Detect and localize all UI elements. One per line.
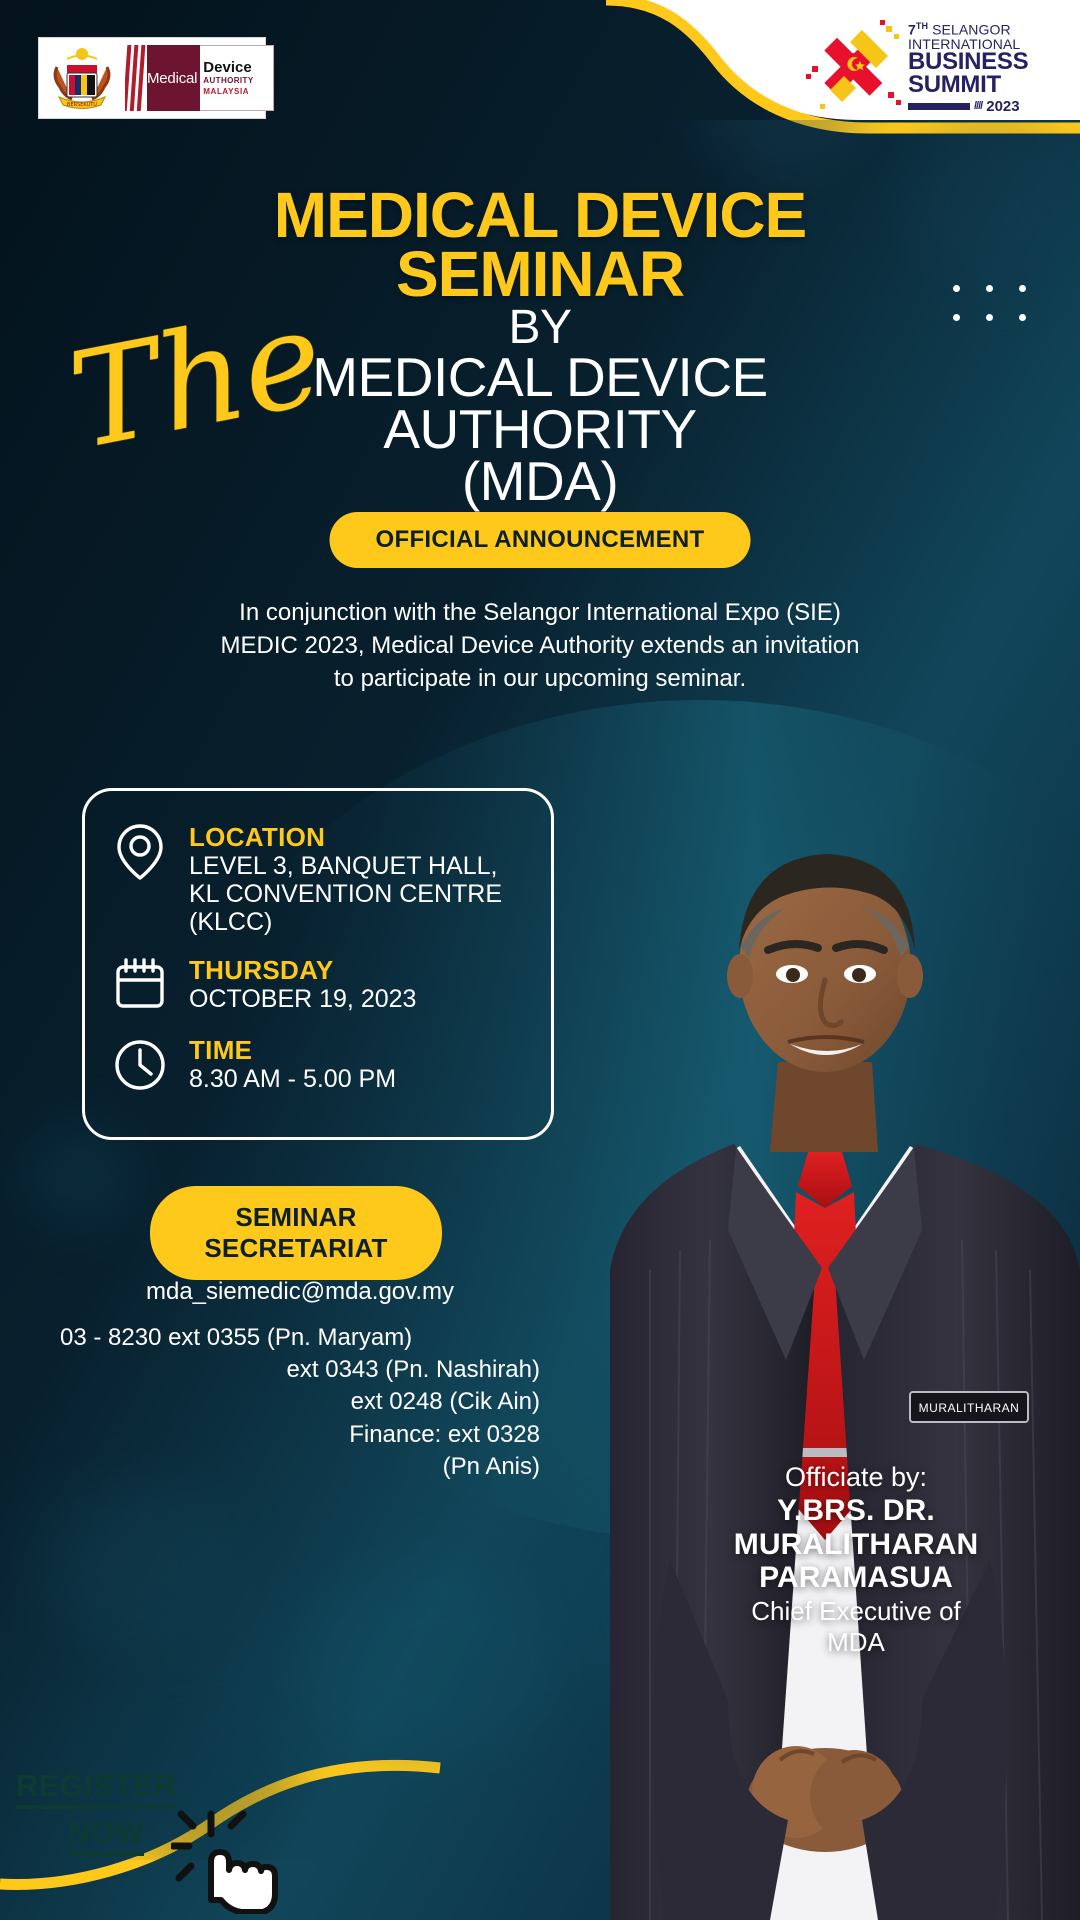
register-label-line1[interactable]: REGISTER [16,1768,176,1809]
officiate-name-line2: MURALITHARAN [646,1528,1066,1562]
detail-row-location: LOCATION LEVEL 3, BANQUET HALL, KL CONVE… [111,821,529,936]
officiate-block: Officiate by: Y.BRS. DR. MURALITHARAN PA… [646,1462,1066,1658]
secretariat-badge-line1: SEMINAR [170,1202,422,1233]
official-announcement-badge: OFFICIAL ANNOUNCEMENT [330,512,751,568]
contact-line-2: ext 0343 (Pn. Nashirah) [60,1354,540,1386]
calendar-icon [111,954,169,1016]
detail-label-date: THURSDAY [189,956,529,985]
contact-line-1: 03 - 8230 ext 0355 (Pn. Maryam) [60,1322,540,1354]
detail-value-location: LEVEL 3, BANQUET HALL, KL CONVENTION CEN… [189,852,529,936]
dots-decoration-icon [953,285,1026,343]
clock-icon [111,1034,169,1096]
detail-label-time: TIME [189,1036,529,1065]
detail-label-location: LOCATION [189,823,529,852]
officiate-role-line1: Chief Executive of [646,1597,1066,1627]
seminar-secretariat-badge: SEMINAR SECRETARIAT [150,1186,442,1280]
detail-row-time: TIME 8.30 AM - 5.00 PM [111,1034,529,1096]
event-details-card: LOCATION LEVEL 3, BANQUET HALL, KL CONVE… [82,788,554,1140]
secretariat-badge-line2: SECRETARIAT [170,1233,422,1264]
officiate-name-line3: PARAMASUA [646,1561,1066,1595]
intro-paragraph: In conjunction with the Selangor Interna… [220,596,860,695]
title-yellow-line2: SEMINAR [0,245,1080,304]
location-pin-icon [111,821,169,883]
contact-email[interactable]: mda_siemedic@mda.gov.my [60,1276,540,1308]
contact-line-3: ext 0248 (Cik Ain) [60,1386,540,1418]
contact-line-4: Finance: ext 0328 [60,1419,540,1451]
register-label-line2[interactable]: NOW [68,1815,144,1856]
page-title: MEDICAL DEVICE SEMINAR [0,186,1080,304]
poster-root: BERSEKUTU Medical Device AUTHORITY MALAY… [0,0,1080,1920]
contact-list: mda_siemedic@mda.gov.my 03 - 8230 ext 03… [60,1276,540,1483]
officiate-role-line2: MDA [646,1628,1066,1658]
detail-row-date: THURSDAY OCTOBER 19, 2023 [111,954,529,1016]
detail-value-time: 8.30 AM - 5.00 PM [189,1065,529,1093]
contact-line-5: (Pn Anis) [60,1451,540,1483]
officiate-name-line1: Y.BRS. DR. [646,1494,1066,1528]
officiate-prefix: Officiate by: [646,1462,1066,1494]
register-now-cta[interactable]: REGISTER NOW [16,1768,176,1856]
script-the-decoration: The [61,301,295,535]
click-hand-cursor-icon [171,1804,281,1914]
title-yellow-line1: MEDICAL DEVICE [0,186,1080,245]
detail-value-date: OCTOBER 19, 2023 [189,985,529,1013]
